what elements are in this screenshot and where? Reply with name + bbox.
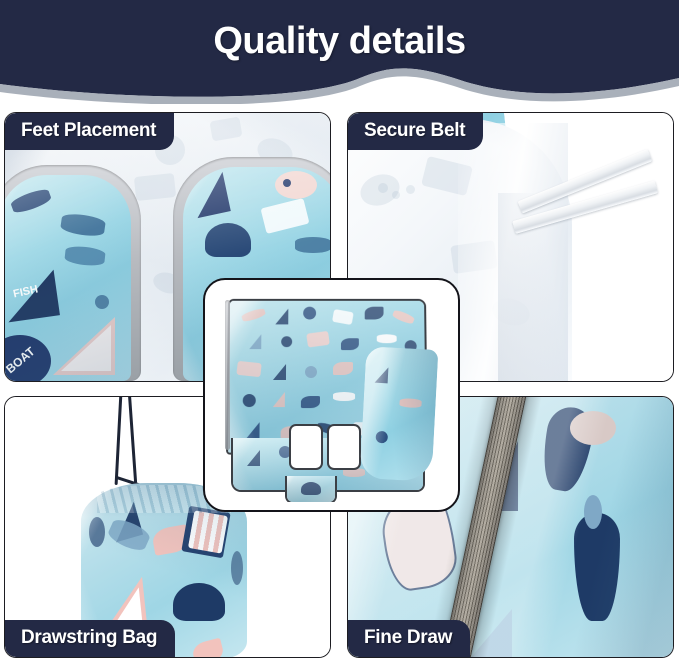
page-title: Quality details bbox=[0, 18, 679, 64]
center-inset-card[interactable] bbox=[203, 278, 460, 512]
center-inset-photo bbox=[213, 288, 450, 502]
infographic-page: Quality details bbox=[0, 0, 679, 668]
leg-hole-right bbox=[327, 424, 361, 470]
leg-hole-left-lining: FISH BOAT bbox=[5, 175, 131, 381]
chair-cover-bottom-tab bbox=[285, 476, 337, 502]
panel-label-drawstring-bag: Drawstring Bag bbox=[5, 620, 175, 657]
panel-label-fine-draw: Fine Draw bbox=[348, 620, 470, 657]
chair-cover-side-drape bbox=[360, 346, 439, 482]
leg-hole-left bbox=[289, 424, 323, 470]
header-banner: Quality details bbox=[0, 0, 679, 104]
panel-label-feet-placement: Feet Placement bbox=[5, 113, 174, 150]
panel-label-secure-belt: Secure Belt bbox=[348, 113, 483, 150]
